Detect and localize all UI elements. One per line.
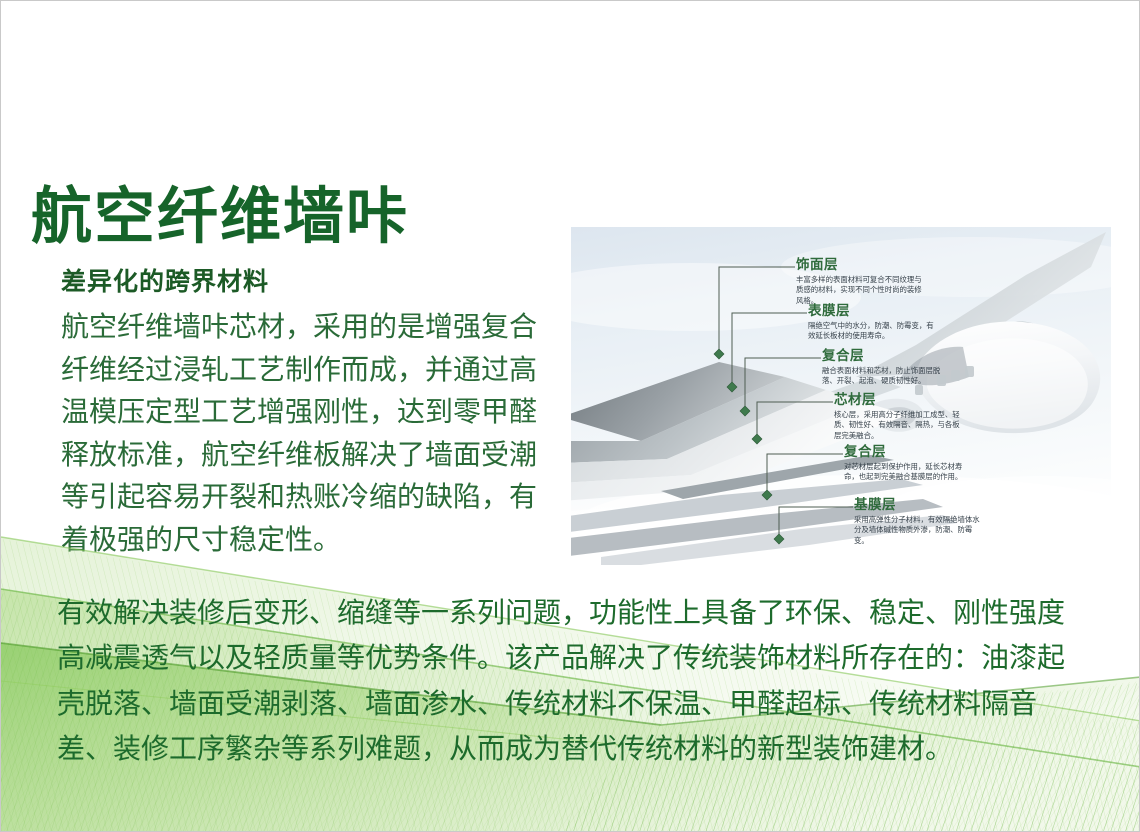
bottom-paragraph: 有效解决装修后变形、缩缝等一系列问题，功能性上具备了环保、稳定、刚性强度高减震透… xyxy=(57,590,1092,771)
layer-label-1: 饰面层 丰富多样的表面材料可复合不同纹理与质感的材料，实现不同个性时尚的装修风格… xyxy=(796,258,928,306)
layer-description: 对芯材层起到保护作用，延长芯材寿命，也起到完美融合基膜层的作用。 xyxy=(844,462,976,483)
layer-name: 复合层 xyxy=(822,349,954,364)
layer-label-4: 芯材层 核心层，采用高分子纤维加工成型、轻质、韧性好、有效隔音、隔热，与各板层完… xyxy=(834,393,966,441)
product-diagram-image: 饰面层 丰富多样的表面材料可复合不同纹理与质感的材料，实现不同个性时尚的装修风格… xyxy=(571,227,1111,565)
layer-name: 复合层 xyxy=(844,445,976,460)
layer-description: 采用高弹性分子材料，有效隔绝墙体水分及墙体碱性物质外渗，防潮、防霉变。 xyxy=(854,515,986,547)
layer-name: 表膜层 xyxy=(808,304,940,319)
layer-label-5: 复合层 对芯材层起到保护作用，延长芯材寿命，也起到完美融合基膜层的作用。 xyxy=(844,445,976,483)
layer-name: 芯材层 xyxy=(834,393,966,408)
layer-description: 隔绝空气中的水分，防潮、防霉变，有效延长板材的使用寿命。 xyxy=(808,321,940,342)
layer-label-3: 复合层 融合表面材料和芯材，防止饰面层脱落、开裂、起泡、硬质韧性好。 xyxy=(822,349,954,387)
layer-description: 核心层，采用高分子纤维加工成型、轻质、韧性好、有效隔音、隔热，与各板层完美融合。 xyxy=(834,410,966,442)
layer-description: 丰富多样的表面材料可复合不同纹理与质感的材料，实现不同个性时尚的装修风格。 xyxy=(796,275,928,307)
layer-name: 饰面层 xyxy=(796,258,928,273)
page-title: 航空纤维墙咔 xyxy=(31,184,561,248)
page-subtitle: 差异化的跨界材料 xyxy=(61,262,561,298)
layer-label-2: 表膜层 隔绝空气中的水分，防潮、防霉变，有效延长板材的使用寿命。 xyxy=(808,304,940,342)
poster-canvas: 航空纤维墙咔 差异化的跨界材料 航空纤维墙咔芯材，采用的是增强复合纤维经过浸轧工… xyxy=(0,0,1140,832)
layer-label-6: 基膜层 采用高弹性分子材料，有效隔绝墙体水分及墙体碱性物质外渗，防潮、防霉变。 xyxy=(854,498,986,546)
layer-description: 融合表面材料和芯材，防止饰面层脱落、开裂、起泡、硬质韧性好。 xyxy=(822,366,954,387)
layer-name: 基膜层 xyxy=(854,498,986,513)
lead-paragraph: 航空纤维墙咔芯材，采用的是增强复合纤维经过浸轧工艺制作而成，并通过高温模压定型工… xyxy=(61,306,561,561)
headline-block: 航空纤维墙咔 差异化的跨界材料 航空纤维墙咔芯材，采用的是增强复合纤维经过浸轧工… xyxy=(31,184,561,561)
